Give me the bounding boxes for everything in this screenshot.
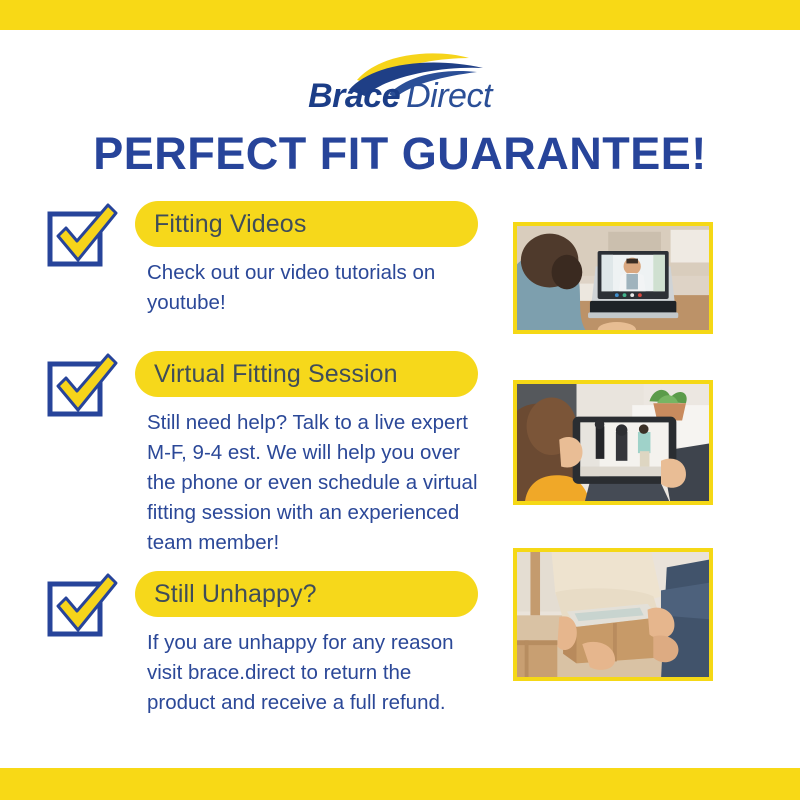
logo-word-brace: Brace <box>308 77 400 115</box>
logo-wordmark: BraceDirect <box>308 77 492 116</box>
body-line: M-F, 9-4 est. We will help you over <box>147 438 497 468</box>
photo-return-box <box>513 548 713 681</box>
photo-video-call-illustration <box>517 226 709 334</box>
checkbox-checked-icon <box>46 570 120 640</box>
body-line: team member! <box>147 528 497 558</box>
pill-label: Fitting Videos <box>154 210 306 239</box>
brand-logo: BraceDirect <box>0 50 800 116</box>
body-line: Still need help? Talk to a live expert <box>147 408 497 438</box>
photo-tablet-session <box>513 380 713 505</box>
body-line: fitting session with an experienced <box>147 498 497 528</box>
body-text-fitting-videos: Check out our video tutorials on youtube… <box>147 258 497 318</box>
bottom-yellow-band <box>0 768 800 800</box>
pill-virtual-fitting-session[interactable]: Virtual Fitting Session <box>135 351 478 397</box>
body-line: If you are unhappy for any reason <box>147 628 497 658</box>
body-line: the phone or even schedule a virtual <box>147 468 497 498</box>
body-line: youtube! <box>147 288 497 318</box>
checkbox-checked-icon <box>46 350 120 420</box>
photo-return-box-illustration <box>517 552 709 680</box>
logo-word-direct: Direct <box>406 77 492 115</box>
pill-fitting-videos[interactable]: Fitting Videos <box>135 201 478 247</box>
pill-label: Still Unhappy? <box>154 580 317 609</box>
photo-video-call <box>513 222 713 334</box>
body-text-still-unhappy: If you are unhappy for any reason visit … <box>147 628 497 718</box>
body-line: product and receive a full refund. <box>147 688 497 718</box>
pill-still-unhappy[interactable]: Still Unhappy? <box>135 571 478 617</box>
body-line: Check out our video tutorials on <box>147 258 497 288</box>
body-line: visit brace.direct to return the <box>147 658 497 688</box>
pill-label: Virtual Fitting Session <box>154 360 398 389</box>
page-title: PERFECT FIT GUARANTEE! <box>0 128 800 180</box>
top-yellow-band <box>0 0 800 30</box>
checkbox-checked-icon <box>46 200 120 270</box>
photo-tablet-session-illustration <box>517 384 709 504</box>
body-text-virtual-fitting-session: Still need help? Talk to a live expert M… <box>147 408 497 558</box>
perfect-fit-guarantee-graphic: BraceDirect PERFECT FIT GUARANTEE! Fitti… <box>0 0 800 800</box>
